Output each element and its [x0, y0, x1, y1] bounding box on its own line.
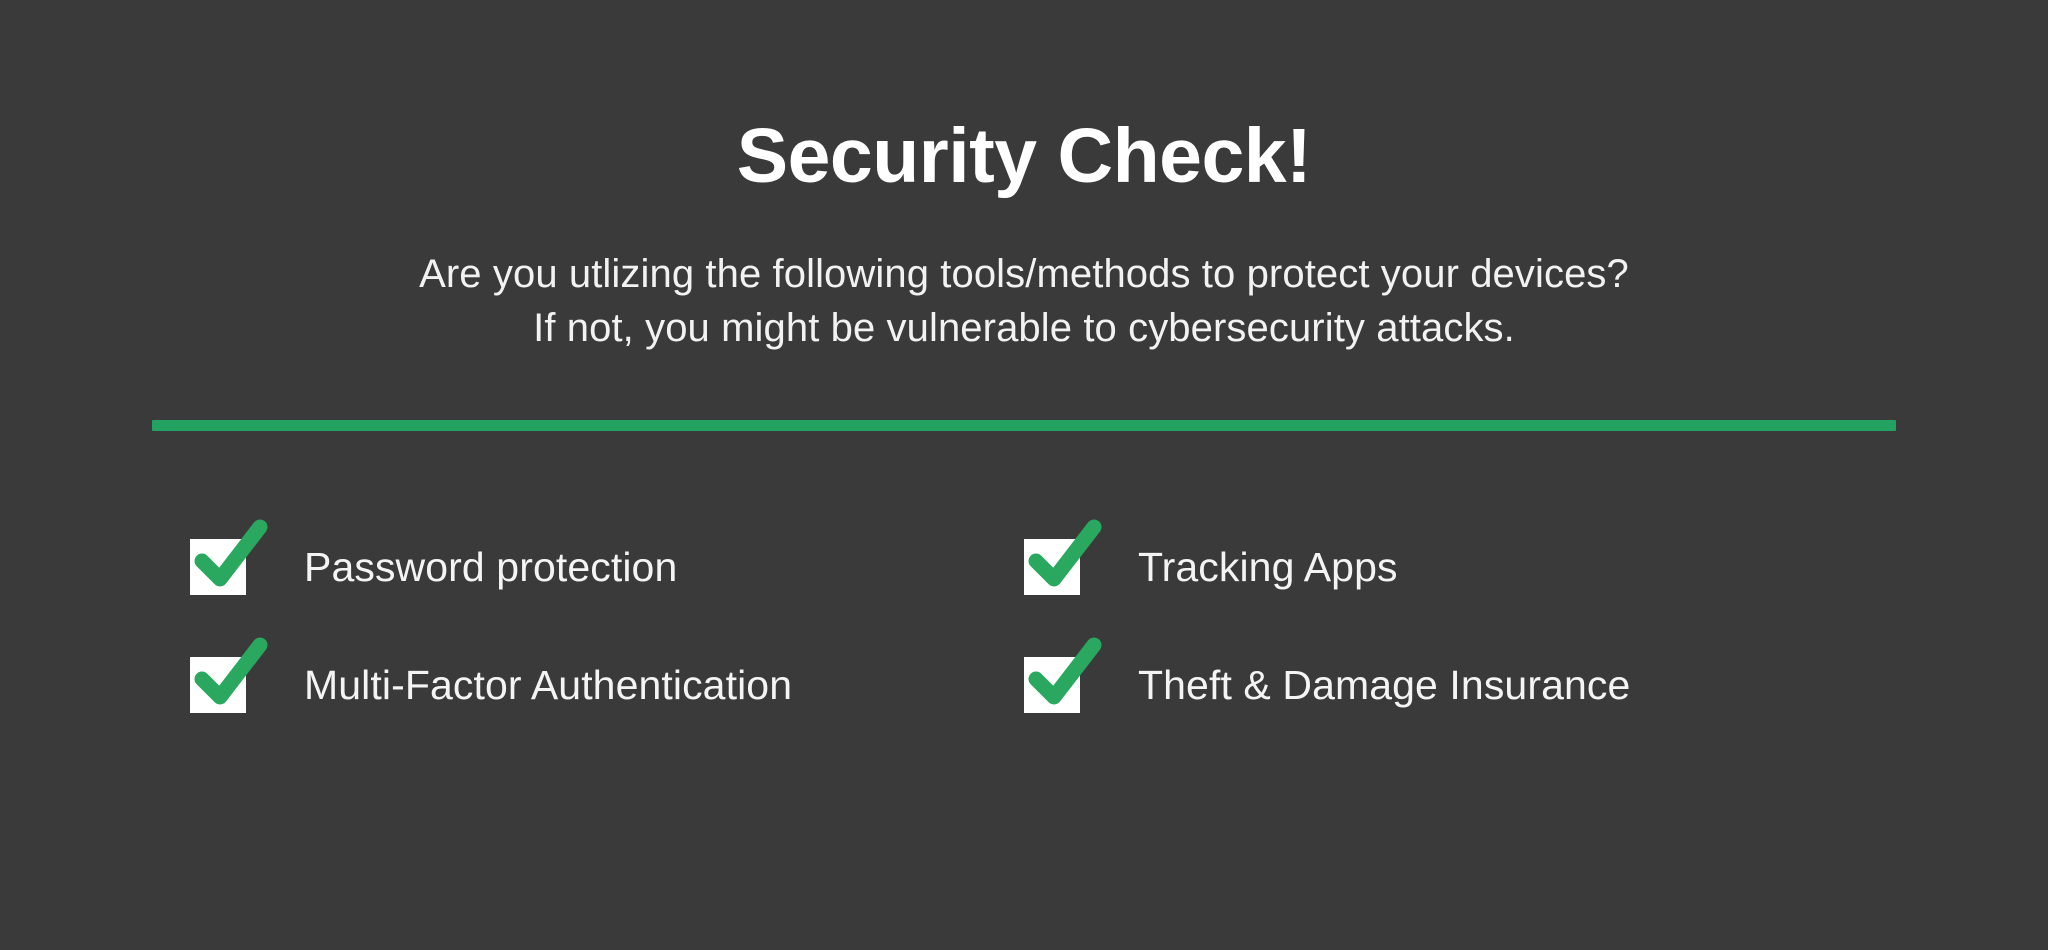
checkbox-theft-damage-insurance[interactable] — [1024, 657, 1080, 713]
checkbox-password-protection[interactable] — [190, 539, 246, 595]
page-title: Security Check! — [737, 118, 1312, 195]
list-item[interactable]: Multi-Factor Authentication — [190, 657, 1024, 713]
checkmark-icon — [1022, 635, 1108, 721]
subtitle-line-1: Are you utlizing the following tools/met… — [419, 247, 1629, 301]
list-item[interactable]: Password protection — [190, 539, 1024, 595]
subtitle-block: Are you utlizing the following tools/met… — [419, 247, 1629, 355]
list-item-label: Theft & Damage Insurance — [1138, 662, 1630, 709]
checklist: Password protection Tracking Apps Multi-… — [0, 539, 2048, 713]
checkbox-tracking-apps[interactable] — [1024, 539, 1080, 595]
list-item-label: Password protection — [304, 544, 677, 591]
checkmark-icon — [188, 517, 274, 603]
list-item[interactable]: Theft & Damage Insurance — [1024, 657, 1858, 713]
divider-container — [0, 420, 2048, 431]
list-item[interactable]: Tracking Apps — [1024, 539, 1858, 595]
subtitle-line-2: If not, you might be vulnerable to cyber… — [419, 301, 1629, 355]
list-item-label: Multi-Factor Authentication — [304, 662, 792, 709]
checkmark-icon — [188, 635, 274, 721]
checkmark-icon — [1022, 517, 1108, 603]
accent-divider — [152, 420, 1896, 431]
security-check-card: Security Check! Are you utlizing the fol… — [0, 0, 2048, 950]
checkbox-multi-factor-authentication[interactable] — [190, 657, 246, 713]
list-item-label: Tracking Apps — [1138, 544, 1398, 591]
